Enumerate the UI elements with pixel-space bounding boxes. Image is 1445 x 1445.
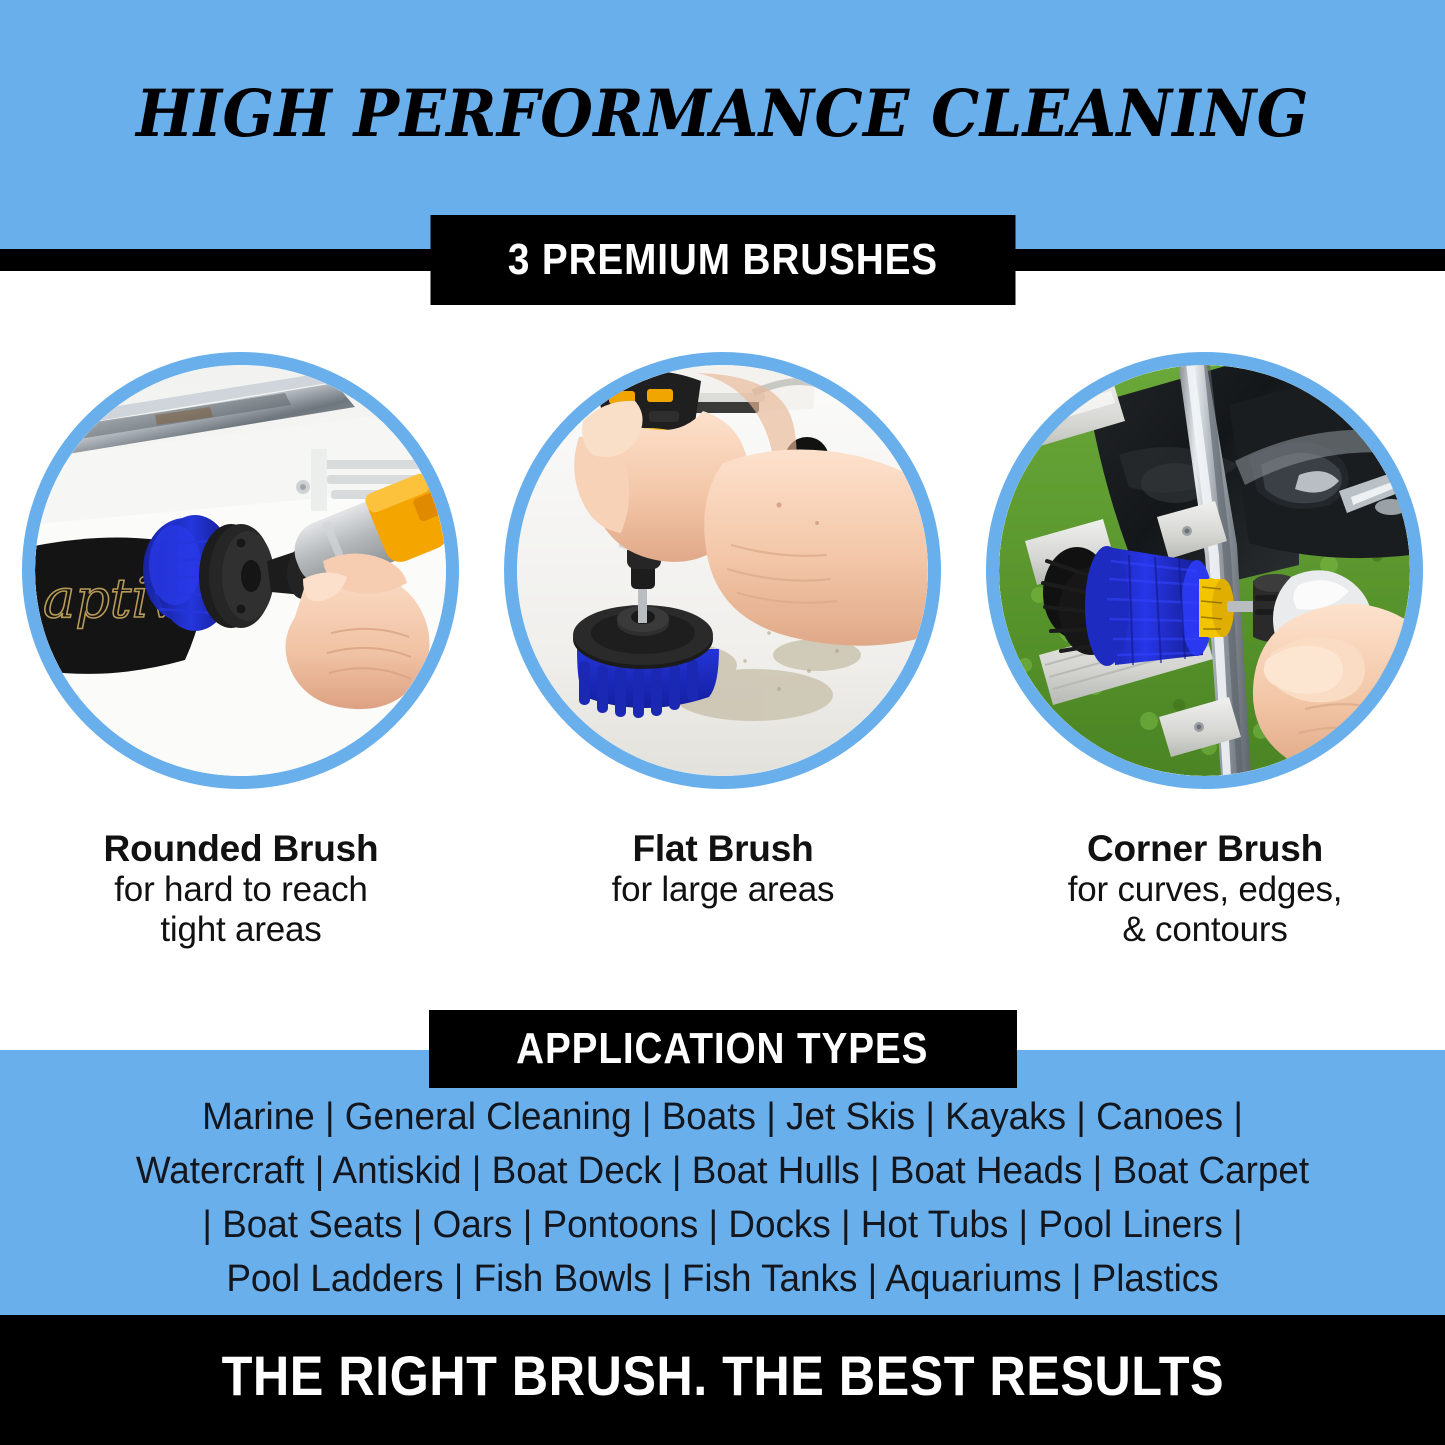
application-types-line-4: Pool Ladders | Fish Bowls | Fish Tanks |…: [22, 1252, 1424, 1306]
flat-brush-illustration: Capt: [517, 365, 928, 776]
flat-brush-subtitle-line-1: for large areas: [488, 870, 958, 910]
rounded-brush-caption: Rounded Brush for hard to reach tight ar…: [6, 828, 476, 951]
page-title: HIGH PERFORMANCE CLEANING: [51, 76, 1395, 152]
corner-brush-circle: [986, 352, 1423, 789]
corner-brush-caption: Corner Brush for curves, edges, & contou…: [970, 828, 1440, 951]
application-types-line-3: | Boat Seats | Oars | Pontoons | Docks |…: [22, 1198, 1424, 1252]
application-types-line-2: Watercraft | Antiskid | Boat Deck | Boat…: [22, 1144, 1424, 1198]
premium-brushes-label: 3 PREMIUM BRUSHES: [507, 235, 937, 285]
application-types-label: APPLICATION TYPES: [516, 1024, 928, 1074]
rounded-brush-photo: aptiv: [35, 365, 446, 776]
infographic-page: HIGH PERFORMANCE CLEANING 3 PREMIUM BRUS…: [0, 0, 1445, 1445]
application-types-line-1: Marine | General Cleaning | Boats | Jet …: [22, 1090, 1424, 1144]
flat-brush-circle: Capt: [504, 352, 941, 789]
flat-brush-title: Flat Brush: [488, 828, 958, 870]
application-types-banner: APPLICATION TYPES: [429, 1010, 1017, 1088]
rounded-brush-title: Rounded Brush: [6, 828, 476, 870]
flat-brush-caption: Flat Brush for large areas: [488, 828, 958, 910]
flat-brush-photo: Capt: [517, 365, 928, 776]
rounded-brush-illustration: aptiv: [35, 365, 446, 776]
rounded-brush-subtitle-line-1: for hard to reach: [6, 870, 476, 910]
premium-brushes-banner: 3 PREMIUM BRUSHES: [430, 215, 1015, 305]
corner-brush-illustration: [999, 365, 1410, 776]
rounded-brush-subtitle-line-2: tight areas: [6, 910, 476, 950]
corner-brush-photo: [999, 365, 1410, 776]
footer-tagline: THE RIGHT BRUSH. THE BEST RESULTS: [0, 1343, 1445, 1408]
footer-tagline-text: THE RIGHT BRUSH. THE BEST RESULTS: [221, 1343, 1223, 1408]
rounded-brush-circle: aptiv: [22, 352, 459, 789]
corner-brush-subtitle-line-2: & contours: [970, 910, 1440, 950]
brush-photo-row: aptiv: [0, 352, 1445, 792]
application-types-list: Marine | General Cleaning | Boats | Jet …: [0, 1090, 1445, 1306]
corner-brush-title: Corner Brush: [970, 828, 1440, 870]
corner-brush-subtitle-line-1: for curves, edges,: [970, 870, 1440, 910]
